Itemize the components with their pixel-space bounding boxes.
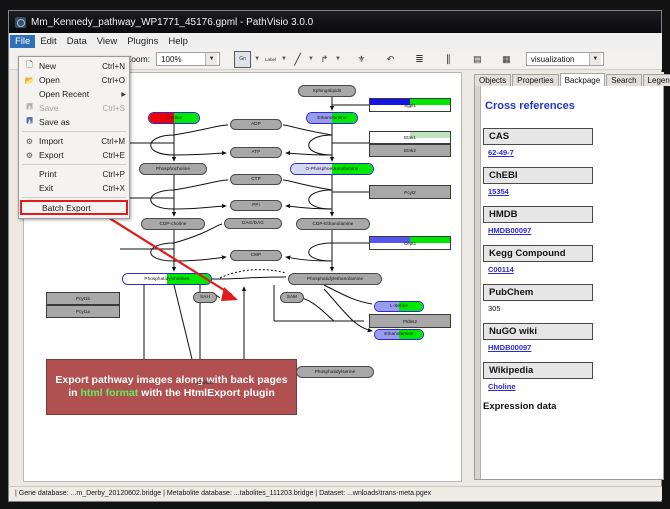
statusbar-text: | Gene database: ...m_Derby_20120602.bri…: [15, 490, 431, 497]
open-folder-icon: 📂: [23, 75, 36, 86]
gene-product-node[interactable]: Etnk1: [369, 131, 451, 144]
backpage-content: Cross references CAS62-49-7ChEBI15354HMD…: [474, 86, 664, 480]
callout-banner: Export pathway images along with back pa…: [46, 359, 297, 415]
node-label: Choline: [197, 381, 213, 386]
node-label: Etnk2: [404, 148, 416, 153]
xref-source-header: CAS: [483, 128, 593, 145]
menu-item-label: Open Recent: [39, 89, 125, 99]
menu-help[interactable]: Help: [163, 35, 193, 48]
xref-source-header: Kegg Compound: [483, 245, 593, 262]
metabolite-node[interactable]: L-Serine: [374, 301, 424, 312]
metabolite-node[interactable]: Choline: [148, 112, 200, 124]
xref-link[interactable]: 62-49-7: [488, 148, 514, 157]
file-menu-item-new[interactable]: 🗋NewCtrl+N: [19, 59, 129, 73]
menu-data[interactable]: Data: [62, 35, 92, 48]
visualization-combobox[interactable]: visualization ▼: [526, 52, 604, 66]
node-label: Pcyt1a: [76, 309, 90, 314]
align-left-icon[interactable]: ↶: [383, 52, 398, 67]
metabolite-node[interactable]: PPi: [230, 200, 282, 211]
node-label: SAH: [200, 295, 210, 300]
tab-legend[interactable]: Legend: [643, 74, 670, 86]
gene-product-node[interactable]: Ptdss2: [369, 314, 451, 328]
backpage-scrollbar[interactable]: [475, 86, 481, 480]
xref-link[interactable]: Choline: [488, 382, 516, 391]
xref-source-header: ChEBI: [483, 167, 593, 184]
save-icon: 🖪: [23, 103, 36, 114]
line-dropdown-icon[interactable]: ▼: [308, 56, 314, 62]
pathvisio-app-icon: [15, 17, 26, 28]
file-menu-item-export[interactable]: ⚙ExportCtrl+E: [19, 148, 129, 162]
menu-separator: [22, 164, 126, 165]
metabolite-node[interactable]: CDP-choline: [141, 218, 205, 230]
menu-item-label: Exit: [39, 183, 99, 193]
gene-product-dropdown-icon[interactable]: ▼: [254, 56, 260, 62]
window-title: Mm_Kennedy_pathway_WP1771_45176.gpml - P…: [31, 17, 313, 28]
xref-link[interactable]: C00114: [488, 265, 514, 274]
file-menu-dropdown[interactable]: 🗋NewCtrl+N📂OpenCtrl+OOpen Recent▶🖪SaveCt…: [18, 56, 130, 219]
align-columns-icon[interactable]: ∥: [441, 52, 456, 67]
xref-link[interactable]: 15354: [488, 187, 509, 196]
gene-product-node[interactable]: Pcyt2: [369, 185, 451, 199]
menu-item-no-icon: [26, 202, 39, 213]
node-label: DAG/DAG: [242, 221, 264, 226]
chevron-down-icon[interactable]: ▼: [205, 53, 217, 65]
export-icon: ⚙: [23, 150, 36, 161]
menu-item-no-icon: [23, 169, 36, 180]
node-label: SAM: [287, 295, 297, 300]
node-label: Phosphocholine: [156, 167, 190, 172]
menu-edit[interactable]: Edit: [35, 35, 61, 48]
node-label: ATP: [252, 150, 261, 155]
node-label: Phosphatidylcholines: [144, 277, 189, 282]
interaction-dropdown-icon[interactable]: ▼: [335, 56, 341, 62]
menu-item-no-icon: [23, 89, 36, 100]
tab-search[interactable]: Search: [606, 74, 641, 86]
pathvisio-window: Mm_Kennedy_pathway_WP1771_45176.gpml - P…: [8, 10, 662, 502]
new-file-icon: 🗋: [23, 61, 36, 72]
menu-separator: [22, 131, 126, 132]
metabolite-node[interactable]: CMP: [230, 250, 282, 261]
anchor-icon[interactable]: ⚜: [354, 52, 369, 67]
node-label: L-Serine: [390, 304, 408, 309]
node-label: Ethanolamine: [384, 332, 413, 337]
node-label: Choline: [166, 116, 182, 121]
file-menu-item-save-as[interactable]: 🖪Save as: [19, 115, 129, 129]
window-titlebar: Mm_Kennedy_pathway_WP1771_45176.gpml - P…: [9, 11, 661, 33]
zoom-value: 100%: [161, 55, 205, 64]
file-menu-item-open[interactable]: 📂OpenCtrl+O: [19, 73, 129, 87]
file-menu-item-open-recent[interactable]: Open Recent▶: [19, 87, 129, 101]
file-menu-item-save: 🖪SaveCtrl+S: [19, 101, 129, 115]
node-label: Phosphatidylethanolamine: [307, 277, 363, 282]
menu-item-label: Print: [39, 169, 99, 179]
line-icon[interactable]: ╱: [290, 52, 305, 67]
menu-item-label: Open: [39, 75, 98, 85]
callout-highlight: html format: [81, 387, 139, 399]
menubar[interactable]: File Edit Data View Plugins Help: [10, 33, 662, 50]
menu-file[interactable]: File: [10, 35, 35, 48]
menu-view[interactable]: View: [92, 35, 122, 48]
node-label: Ptdss2: [403, 319, 417, 324]
zoom-combobox[interactable]: 100% ▼: [156, 52, 220, 66]
node-label: CDP-choline: [160, 222, 187, 227]
menu-plugins[interactable]: Plugins: [122, 35, 163, 48]
metabolite-node[interactable]: Phosphatidylserine: [296, 366, 374, 378]
menu-item-shortcut: Ctrl+N: [98, 62, 125, 71]
metabolite-node[interactable]: O-Phosphoethanolamine: [290, 163, 374, 175]
node-label: Phosphatidylserine: [315, 370, 356, 375]
menu-item-shortcut: Ctrl+M: [97, 137, 125, 146]
node-label: PPi: [252, 203, 259, 208]
group-icon[interactable]: ▦: [499, 52, 514, 67]
align-rows-icon[interactable]: ≣: [412, 52, 427, 67]
tab-objects[interactable]: Objects: [474, 74, 511, 86]
menu-item-shortcut: Ctrl+P: [99, 170, 125, 179]
xref-source-header: PubChem: [483, 284, 593, 301]
file-menu-item-exit[interactable]: ExitCtrl+X: [19, 181, 129, 195]
xref-value[interactable]: HMDB00097: [488, 343, 655, 352]
menu-item-label: Export: [39, 150, 99, 160]
cross-reference-list: CAS62-49-7ChEBI15354HMDBHMDB00097Kegg Co…: [483, 128, 655, 391]
node-label: Cept1: [404, 241, 416, 246]
node-label: Etnk1: [404, 135, 416, 140]
menu-separator: [22, 197, 126, 198]
xref-link[interactable]: HMDB00097: [488, 343, 531, 352]
side-panel-tabs[interactable]: Objects Properties Backpage Search Legen…: [474, 72, 664, 87]
node-label: Ethanolamine: [317, 116, 346, 121]
metabolite-node[interactable]: SAH: [193, 292, 217, 303]
menu-item-label: New: [39, 61, 98, 71]
tab-backpage[interactable]: Backpage: [560, 73, 606, 87]
menu-item-no-icon: [23, 183, 36, 194]
screenshot-root: Mm_Kennedy_pathway_WP1771_45176.gpml - P…: [0, 0, 670, 509]
node-label: ADP: [251, 122, 261, 127]
metabolite-node[interactable]: Phosphatidylethanolamine: [288, 273, 382, 285]
xref-value[interactable]: C00114: [488, 265, 655, 274]
callout-text: Export pathway images along with back pa…: [53, 374, 290, 401]
metabolite-node[interactable]: Sphingolipids: [298, 85, 356, 97]
xref-value[interactable]: 62-49-7: [488, 148, 655, 157]
file-menu-item-print[interactable]: PrintCtrl+P: [19, 167, 129, 181]
menu-item-shortcut: Ctrl+S: [99, 104, 125, 113]
submenu-chevron-icon: ▶: [121, 91, 126, 98]
gene-product-node[interactable]: Cept1: [369, 236, 451, 250]
node-label: CMP: [251, 253, 262, 258]
menu-item-label: Save: [39, 103, 99, 113]
node-label: O-Phosphoethanolamine: [306, 167, 359, 172]
metabolite-node[interactable]: CDP-Ethanolamine: [296, 218, 370, 230]
gene-product-node[interactable]: Pcyt1b: [46, 292, 120, 305]
node-label: Sphingolipids: [313, 89, 342, 94]
menu-item-label: Import: [39, 136, 97, 146]
xref-source-header: NuGO wiki: [483, 323, 593, 340]
label-dropdown-icon[interactable]: ▼: [281, 56, 287, 62]
gene-product-node[interactable]: Sgpl1: [369, 98, 451, 112]
import-icon: ⚙: [23, 136, 36, 147]
menu-item-shortcut: Ctrl+E: [99, 151, 125, 160]
visualization-value: visualization: [531, 55, 589, 64]
stack-icon[interactable]: ▤: [470, 52, 485, 67]
metabolite-node[interactable]: Ethanolamine: [306, 112, 358, 124]
node-label: Sgpl1: [404, 103, 416, 108]
chevron-down-icon[interactable]: ▼: [589, 53, 601, 65]
callout-part2: with the HtmlExport plugin: [138, 387, 275, 399]
gene-product-node[interactable]: Pcyt1a: [46, 305, 120, 318]
node-label: CTP: [251, 177, 261, 182]
xref-value[interactable]: HMDB00097: [488, 226, 655, 235]
metabolite-node[interactable]: ADP: [230, 119, 282, 130]
xref-source-header: Wikipedia: [483, 362, 593, 379]
file-menu-item-batch-export[interactable]: Batch Export: [20, 200, 128, 215]
interaction-icon[interactable]: ↱: [317, 52, 332, 67]
xref-source-header: HMDB: [483, 206, 593, 223]
xref-link[interactable]: HMDB00097: [488, 226, 531, 235]
metabolite-node[interactable]: SAM: [280, 292, 304, 303]
side-panel: Objects Properties Backpage Search Legen…: [468, 72, 664, 480]
cross-references-heading: Cross references: [485, 100, 655, 112]
node-label: Pcyt1b: [76, 296, 90, 301]
menu-item-label: Save as: [39, 117, 125, 127]
menu-item-shortcut: Ctrl+O: [98, 76, 125, 85]
menu-item-shortcut: Ctrl+X: [99, 184, 125, 193]
metabolite-node[interactable]: Phosphatidylcholines: [122, 273, 212, 285]
gene-product-icon[interactable]: Gn: [234, 51, 251, 68]
file-menu-item-import[interactable]: ⚙ImportCtrl+M: [19, 134, 129, 148]
metabolite-node[interactable]: CTP: [230, 174, 282, 185]
xref-value[interactable]: 15354: [488, 187, 655, 196]
menu-item-label: Batch Export: [42, 203, 122, 213]
metabolite-node[interactable]: ATP: [230, 147, 282, 158]
statusbar: | Gene database: ...m_Derby_20120602.bri…: [10, 486, 662, 500]
label-icon[interactable]: Label: [263, 52, 278, 67]
metabolite-node[interactable]: DAG/DAG: [224, 218, 282, 229]
node-label: Pcyt2: [404, 190, 416, 195]
xref-value: 305: [488, 304, 655, 313]
node-label: CDP-Ethanolamine: [313, 222, 354, 227]
xref-value[interactable]: Choline: [488, 382, 655, 391]
save-as-icon: 🖪: [23, 117, 36, 128]
metabolite-node[interactable]: Phosphocholine: [139, 163, 207, 175]
gene-product-node[interactable]: Etnk2: [369, 144, 451, 157]
metabolite-node[interactable]: Ethanolamine: [374, 329, 424, 340]
tab-properties[interactable]: Properties: [512, 74, 558, 86]
expression-data-heading: Expression data: [483, 401, 655, 412]
